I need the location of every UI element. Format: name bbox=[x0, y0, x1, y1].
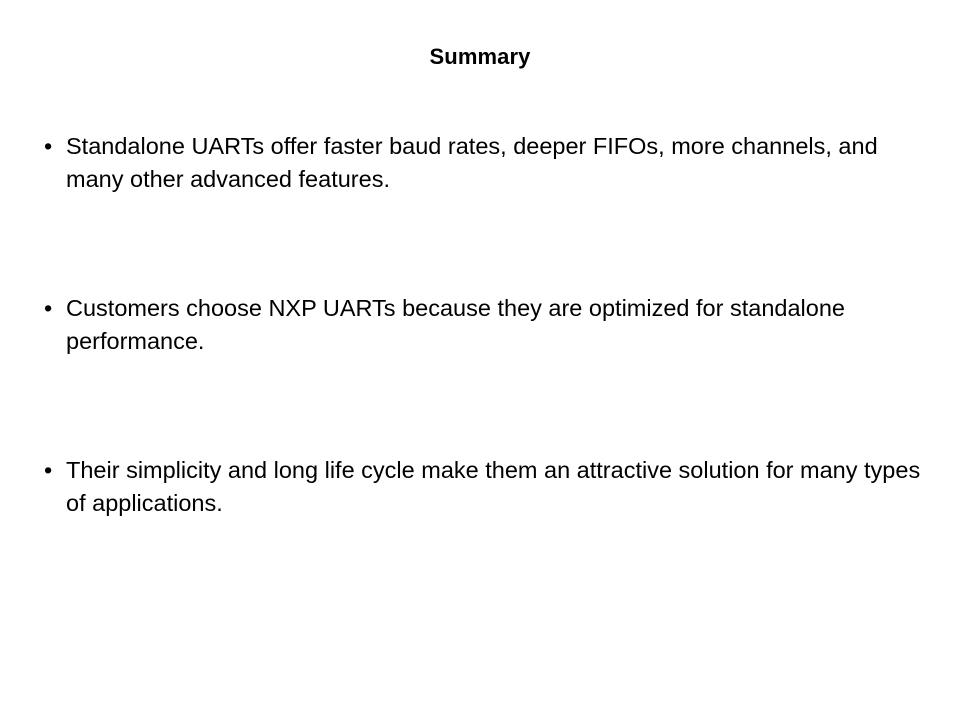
list-item: • Customers choose NXP UARTs because the… bbox=[40, 292, 930, 358]
bullet-point-icon: • bbox=[44, 454, 58, 487]
list-item-text: Their simplicity and long life cycle mak… bbox=[66, 454, 930, 520]
list-item-text: Standalone UARTs offer faster baud rates… bbox=[66, 130, 930, 196]
bullet-point-icon: • bbox=[44, 292, 58, 325]
list-item: • Standalone UARTs offer faster baud rat… bbox=[40, 130, 930, 196]
slide-canvas: Summary • Standalone UARTs offer faster … bbox=[0, 0, 960, 720]
page-title: Summary bbox=[0, 44, 960, 70]
list-item-text: Customers choose NXP UARTs because they … bbox=[66, 292, 930, 358]
bullet-list: • Standalone UARTs offer faster baud rat… bbox=[40, 130, 930, 520]
list-item: • Their simplicity and long life cycle m… bbox=[40, 454, 930, 520]
bullet-point-icon: • bbox=[44, 130, 58, 163]
